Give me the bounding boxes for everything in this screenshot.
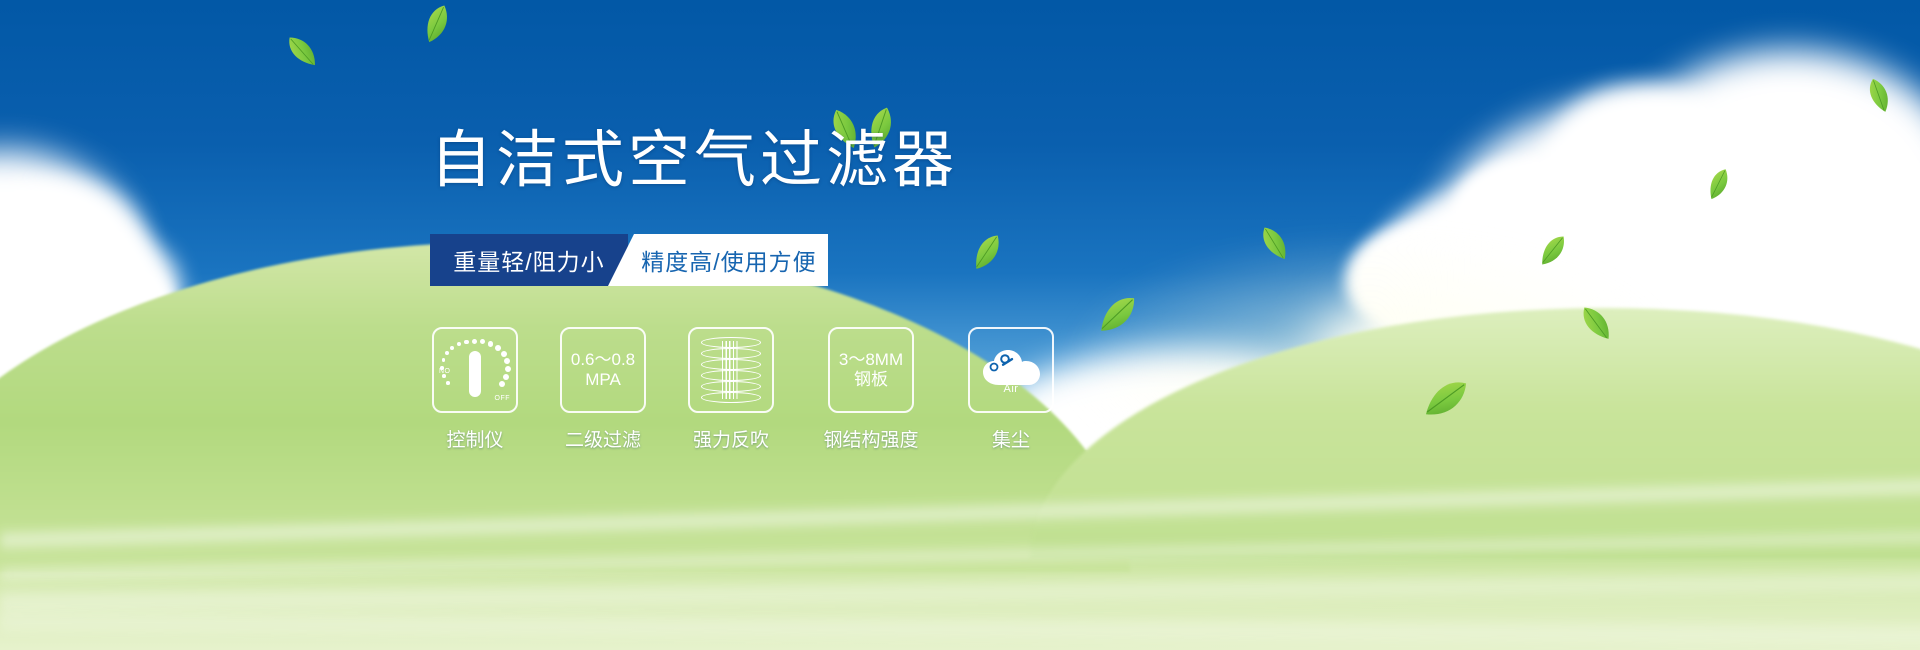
feature-row: NO OFF 控制仪 0.6～0.8 MPA 二级过滤 [432, 327, 1054, 452]
feature-box: NO OFF [432, 327, 518, 413]
page-title: 自洁式空气过滤器 [430, 126, 958, 194]
pressure-unit: MPA [571, 370, 635, 390]
pressure-value: 0.6～0.8 [571, 350, 635, 370]
feature-label: 强力反吹 [693, 425, 769, 452]
feature-box: Air [968, 327, 1054, 413]
feature-box: 3～8MM 钢板 [828, 327, 914, 413]
grass-field [0, 450, 1920, 650]
feature-box: 0.6～0.8 MPA [560, 327, 646, 413]
feature-box [688, 327, 774, 413]
gauge-label-off: OFF [495, 395, 511, 402]
steel-material: 钢板 [839, 370, 903, 390]
steel-plate-icon: 3～8MM 钢板 [839, 350, 903, 390]
feature-item-backblow[interactable]: 强力反吹 [688, 327, 774, 452]
pressure-icon: 0.6～0.8 MPA [571, 350, 635, 390]
dust-cloud-icon: Air [979, 347, 1043, 393]
tag-weight-resistance[interactable]: 重量轻/阻力小 [430, 234, 628, 286]
feature-item-secondary-filter[interactable]: 0.6～0.8 MPA 二级过滤 [560, 327, 646, 452]
feature-item-steel-strength[interactable]: 3～8MM 钢板 钢结构强度 [816, 327, 926, 452]
tag-precision-convenience[interactable]: 精度高/使用方便 [608, 234, 828, 286]
grass-streak [0, 607, 1920, 650]
steel-thickness: 3～8MM [839, 350, 903, 370]
filter-stack-icon [701, 337, 761, 403]
gauge-icon: NO OFF [440, 337, 510, 403]
gauge-label-no: NO [439, 368, 451, 375]
feature-label: 钢结构强度 [823, 425, 918, 452]
feature-label: 二级过滤 [565, 425, 641, 452]
feature-label: 集尘 [992, 425, 1030, 452]
air-label: Air [979, 383, 1043, 395]
feature-item-dust-collection[interactable]: Air 集尘 [968, 327, 1054, 452]
feature-label: 控制仪 [446, 425, 503, 452]
banner-stage: 自洁式空气过滤器 重量轻/阻力小 精度高/使用方便 [0, 0, 1920, 650]
feature-item-controller[interactable]: NO OFF 控制仪 [432, 327, 518, 452]
